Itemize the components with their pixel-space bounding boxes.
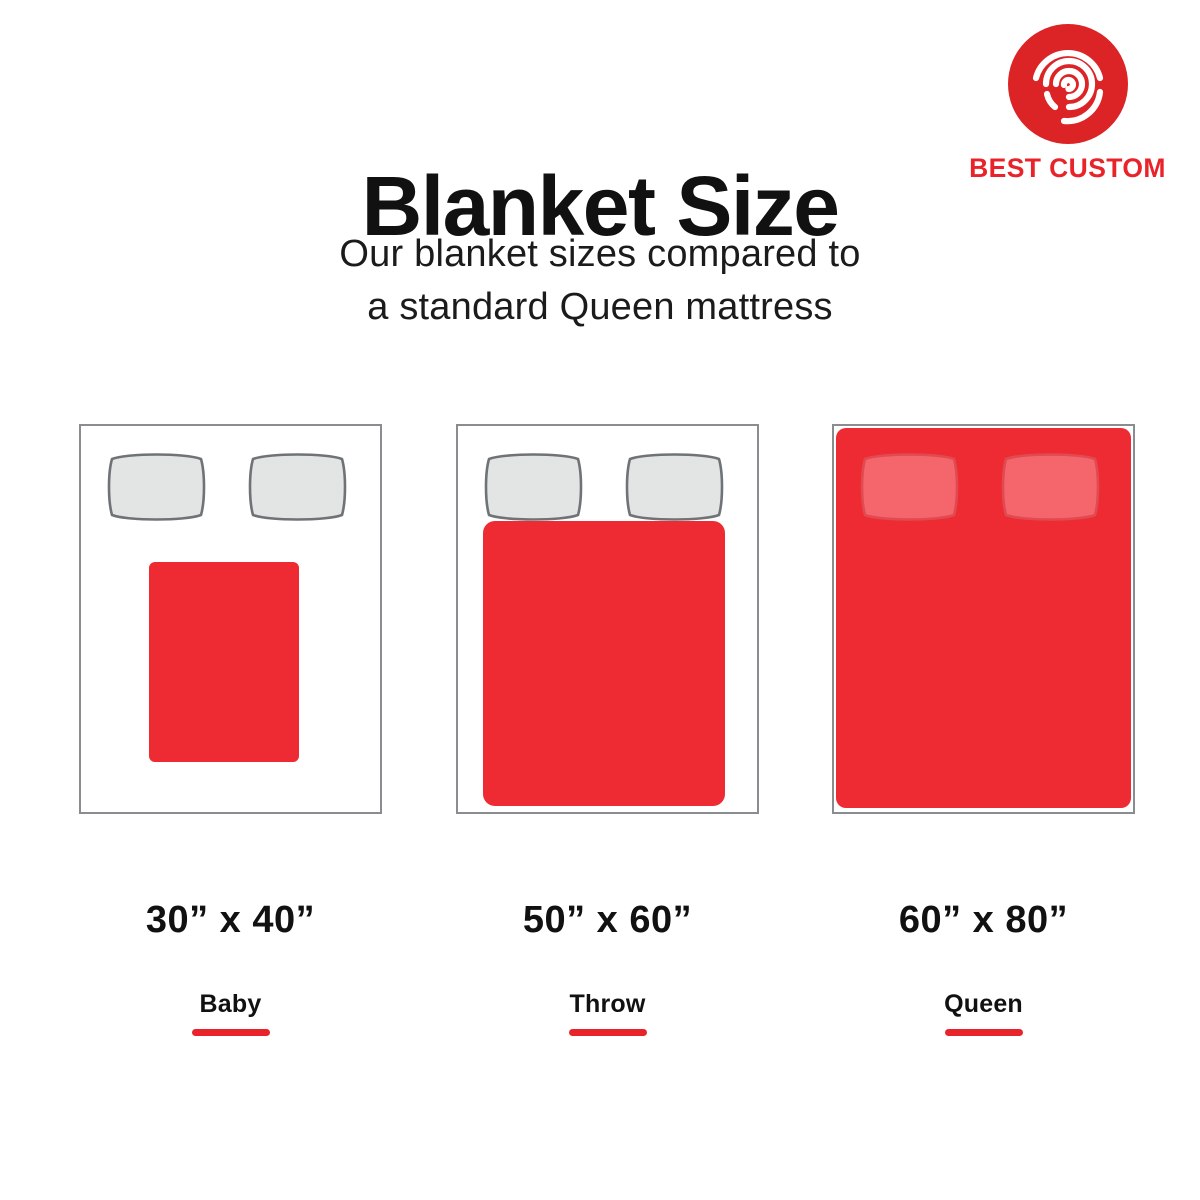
- bed-diagram-queen: [832, 424, 1135, 814]
- subtitle-line-1: Our blanket sizes compared to: [0, 228, 1200, 281]
- captions-row: 30” x 40” Baby 50” x 60” Throw 60” x 80”…: [0, 898, 1200, 1038]
- blanket-dimensions: 30” x 40”: [79, 898, 382, 942]
- page-subtitle: Our blanket sizes compared to a standard…: [0, 228, 1200, 334]
- bed-comparison-row: [0, 424, 1200, 814]
- accent-underline: [945, 1029, 1023, 1036]
- blanket-shape-throw: [483, 521, 725, 806]
- pillow-icon: [859, 451, 960, 523]
- blanket-shape-baby: [149, 562, 299, 762]
- caption-throw: 50” x 60” Throw: [456, 898, 759, 1036]
- bed-diagram-throw: [456, 424, 759, 814]
- blanket-label: Throw: [456, 989, 759, 1019]
- pillow-icon: [1000, 451, 1101, 523]
- accent-underline: [569, 1029, 647, 1036]
- blanket-label: Queen: [832, 989, 1135, 1019]
- blanket-dimensions: 50” x 60”: [456, 898, 759, 942]
- pillow-icon: [483, 451, 584, 523]
- caption-baby: 30” x 40” Baby: [79, 898, 382, 1036]
- accent-underline: [192, 1029, 270, 1036]
- pillow-icon: [247, 451, 348, 523]
- pillow-icon: [624, 451, 725, 523]
- blanket-dimensions: 60” x 80”: [832, 898, 1135, 942]
- bed-diagram-baby: [79, 424, 382, 814]
- caption-queen: 60” x 80” Queen: [832, 898, 1135, 1036]
- blanket-shape-queen: [836, 428, 1131, 808]
- fingerprint-icon: [1006, 22, 1130, 146]
- subtitle-line-2: a standard Queen mattress: [0, 281, 1200, 334]
- blanket-label: Baby: [79, 989, 382, 1019]
- pillow-icon: [106, 451, 207, 523]
